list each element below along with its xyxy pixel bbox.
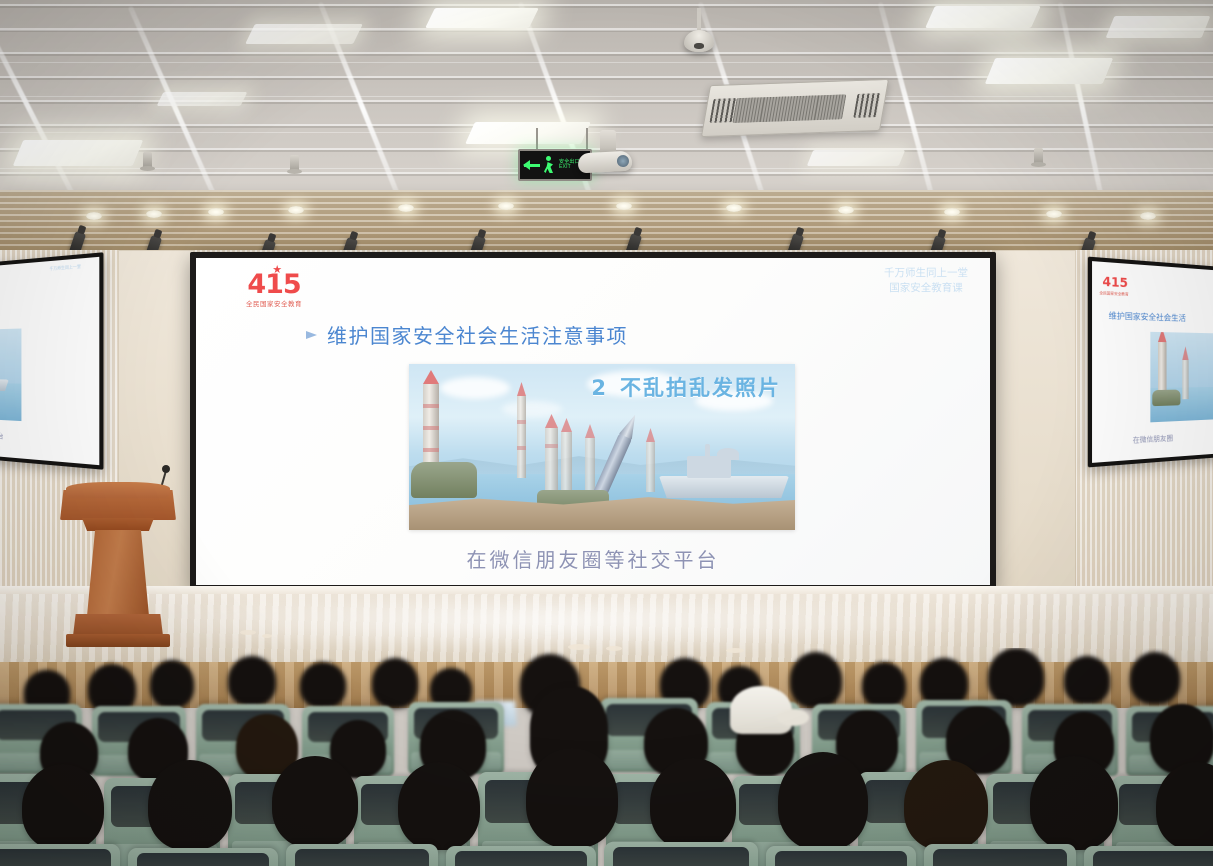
side-monitor-left-screen: 千万师生同上一堂 事项 社交平台 bbox=[0, 257, 99, 465]
audience-head bbox=[790, 652, 842, 708]
missile-launcher bbox=[411, 462, 477, 498]
exit-sign-stem bbox=[586, 128, 588, 150]
slide-title: 维护国家安全社会生活注意事项 bbox=[306, 320, 628, 349]
ceiling-projector bbox=[578, 151, 633, 174]
auditorium-seat bbox=[286, 844, 438, 866]
downlight bbox=[1140, 212, 1156, 220]
downlight bbox=[86, 212, 102, 220]
audience-area bbox=[0, 648, 1213, 866]
rocket bbox=[585, 436, 595, 492]
logo-number: ★ 415 bbox=[247, 272, 300, 298]
podium-body bbox=[87, 530, 149, 616]
auditorium-seat bbox=[0, 844, 120, 866]
audience-head bbox=[148, 760, 232, 850]
downlight bbox=[398, 204, 414, 212]
audience-head bbox=[526, 748, 618, 848]
audience-head bbox=[22, 764, 104, 850]
audience-white-cap bbox=[730, 686, 792, 734]
projector-lens-icon bbox=[617, 155, 630, 168]
downlight bbox=[1046, 210, 1062, 218]
downlight bbox=[726, 204, 742, 212]
ceiling-panel-light bbox=[1106, 16, 1211, 38]
side-left-footer: 社交平台 bbox=[0, 430, 3, 441]
auditorium-seat bbox=[604, 842, 758, 866]
microphone-icon bbox=[162, 465, 170, 473]
watermark-line-1: 千万师生同上一堂 bbox=[884, 266, 968, 281]
ceiling-panel-light bbox=[425, 8, 539, 28]
side-right-footer: 在微信朋友圈 bbox=[1133, 433, 1173, 445]
wall-panel bbox=[994, 250, 1076, 616]
audience-head bbox=[988, 648, 1044, 706]
ceiling-panel-light bbox=[807, 150, 905, 166]
exit-sign-stem bbox=[536, 128, 538, 150]
ceiling-panel-light bbox=[157, 92, 248, 106]
auditorium-seat bbox=[924, 844, 1076, 866]
ship-mast bbox=[705, 444, 710, 458]
floor-debris bbox=[240, 630, 256, 635]
auditorium-seat bbox=[128, 848, 278, 866]
audience-head bbox=[272, 756, 358, 848]
side-right-title: 维护国家安全社会生活 bbox=[1109, 310, 1186, 324]
audience-head bbox=[150, 660, 194, 708]
side-left-illustration bbox=[0, 329, 21, 422]
slide-illustration: 2不乱拍乱发照片 bbox=[409, 364, 795, 530]
soffit-slats bbox=[0, 190, 1213, 256]
sprinkler-head-icon bbox=[143, 152, 152, 168]
arrow-left-icon bbox=[524, 164, 540, 167]
side-left-watermark: 千万师生同上一堂 bbox=[36, 262, 95, 272]
podium-neck bbox=[82, 518, 154, 531]
audience-head bbox=[904, 760, 988, 850]
downlight bbox=[288, 206, 304, 214]
air-conditioner-unit bbox=[701, 79, 889, 137]
watermark-line-2: 国家安全教育课 bbox=[884, 281, 968, 296]
naval-ship bbox=[659, 476, 789, 498]
rocket bbox=[561, 430, 572, 490]
downlight bbox=[208, 208, 224, 216]
slide-title-text: 维护国家安全社会生活注意事项 bbox=[327, 320, 628, 349]
auditorium-seat bbox=[766, 846, 916, 866]
side-right-logo: 415 bbox=[1102, 274, 1127, 290]
downlight bbox=[838, 206, 854, 214]
ac-grille bbox=[732, 94, 846, 123]
audience-head bbox=[372, 658, 418, 708]
downlight bbox=[146, 210, 162, 218]
stage-light-reflection bbox=[120, 600, 980, 652]
ceiling-panel-light bbox=[985, 58, 1114, 84]
ceiling bbox=[0, 0, 1213, 208]
logo-subtitle: 全民国家安全教育 bbox=[246, 298, 302, 308]
audience-head bbox=[1064, 656, 1110, 704]
illustration-caption: 2不乱拍乱发照片 bbox=[591, 372, 781, 402]
audience-head bbox=[862, 662, 906, 708]
auditorium-seat bbox=[446, 846, 596, 866]
side-right-logo-subtitle: 全民国家安全教育 bbox=[1099, 291, 1128, 298]
caption-number: 2 bbox=[591, 376, 608, 400]
ceiling-panel-light bbox=[925, 6, 1041, 28]
side-right-illustration bbox=[1150, 332, 1213, 423]
audience-head bbox=[228, 656, 276, 706]
downlight bbox=[944, 208, 960, 216]
side-monitor-right: 415 全民国家安全教育 维护国家安全社会生活 在微信朋友圈 bbox=[1088, 257, 1213, 468]
slide-footer-text: 在微信朋友圈等社交平台 bbox=[196, 544, 990, 573]
audience-head bbox=[398, 762, 480, 850]
bullet-arrow-icon bbox=[306, 331, 317, 339]
projection-screen: ★ 415 全民国家安全教育 千万师生同上一堂 国家安全教育课 维护国家安全社会… bbox=[196, 258, 990, 585]
sprinkler-head-icon bbox=[290, 155, 299, 171]
ceiling-panel-light bbox=[465, 122, 591, 144]
rocket bbox=[646, 440, 655, 492]
rocket bbox=[545, 426, 558, 490]
podium-top-surface bbox=[66, 482, 170, 498]
downlight bbox=[498, 202, 514, 210]
projection-screen-frame: ★ 415 全民国家安全教育 千万师生同上一堂 国家安全教育课 维护国家安全社会… bbox=[190, 252, 996, 591]
stage-soffit bbox=[0, 190, 1213, 256]
ceiling-panel-light bbox=[245, 24, 363, 44]
rocket bbox=[517, 394, 526, 478]
ac-vent bbox=[853, 93, 880, 118]
podium-plinth bbox=[66, 634, 170, 647]
ceiling-panel-light bbox=[13, 140, 144, 166]
audience-head bbox=[650, 758, 736, 850]
slide-watermark: 千万师生同上一堂 国家安全教育课 bbox=[884, 266, 968, 296]
podium bbox=[60, 478, 176, 658]
slide-logo: ★ 415 全民国家安全教育 bbox=[228, 268, 320, 312]
downlight bbox=[616, 202, 632, 210]
audience-head bbox=[1130, 652, 1180, 704]
caption-text: 不乱拍乱发照片 bbox=[620, 376, 781, 400]
ac-vent bbox=[710, 98, 737, 123]
floor-debris bbox=[262, 634, 272, 638]
audience-head bbox=[300, 662, 346, 708]
side-monitor-left: 千万师生同上一堂 事项 社交平台 bbox=[0, 252, 103, 470]
audience-head bbox=[778, 752, 868, 850]
dome-camera-icon bbox=[684, 30, 714, 52]
auditorium-scene: 安全出口 EXIT ★ 415 bbox=[0, 0, 1213, 866]
side-monitor-right-screen: 415 全民国家安全教育 维护国家安全社会生活 在微信朋友圈 bbox=[1092, 261, 1213, 463]
ship-radome bbox=[717, 448, 739, 460]
audience-head bbox=[1030, 756, 1118, 850]
star-icon: ★ bbox=[272, 265, 281, 275]
running-man-icon bbox=[543, 156, 556, 174]
sprinkler-head-icon bbox=[1034, 148, 1043, 164]
auditorium-seat bbox=[1084, 846, 1213, 866]
